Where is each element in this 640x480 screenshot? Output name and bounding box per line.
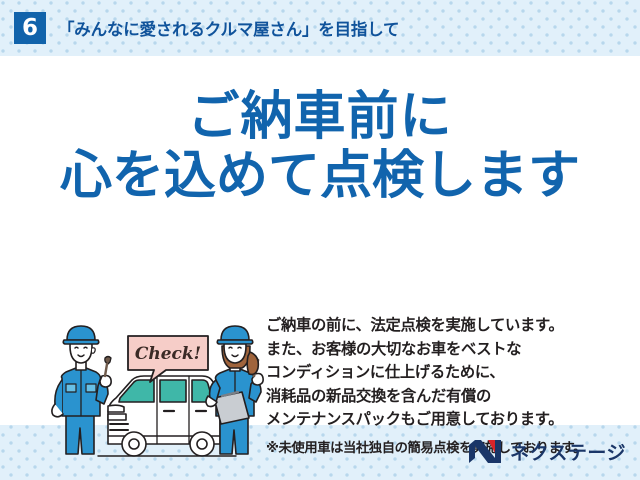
header: 6 「みんなに愛されるクルマ屋さん」を目指して [0,0,640,56]
body-copy-line-2: また、お客様の大切なお車をベストな [266,338,634,362]
headline-line-1: ご納車前に [0,88,640,147]
header-title: 「みんなに愛されるクルマ屋さん」を目指して [58,16,399,40]
nextage-n-mark-icon [468,439,502,464]
brand-logo: ネクステージ [468,436,626,466]
advertisement-poster: 6 「みんなに愛されるクルマ屋さん」を目指して ご納車前に 心を込めて点検します [0,0,640,480]
body-copy-line-3: コンディションに仕上げるために、 [266,361,634,385]
check-bubble-text: Check! [135,344,201,364]
headline-line-2: 心を込めて点検します [0,147,640,206]
content-panel: ご納車前に 心を込めて点検します [0,56,640,425]
body-copy: ご納車の前に、法定点検を実施しています。 また、お客様の大切なお車をベストな コ… [266,314,634,432]
headline: ご納車前に 心を込めて点検します [0,88,640,207]
step-number-badge: 6 [14,12,46,44]
brand-name: ネクステージ [510,438,626,465]
footer: ネクステージ [0,425,640,480]
body-copy-line-4: 消耗品の新品交換を含んだ有償の [266,385,634,409]
body-copy-line-1: ご納車の前に、法定点検を実施しています。 [266,314,634,338]
